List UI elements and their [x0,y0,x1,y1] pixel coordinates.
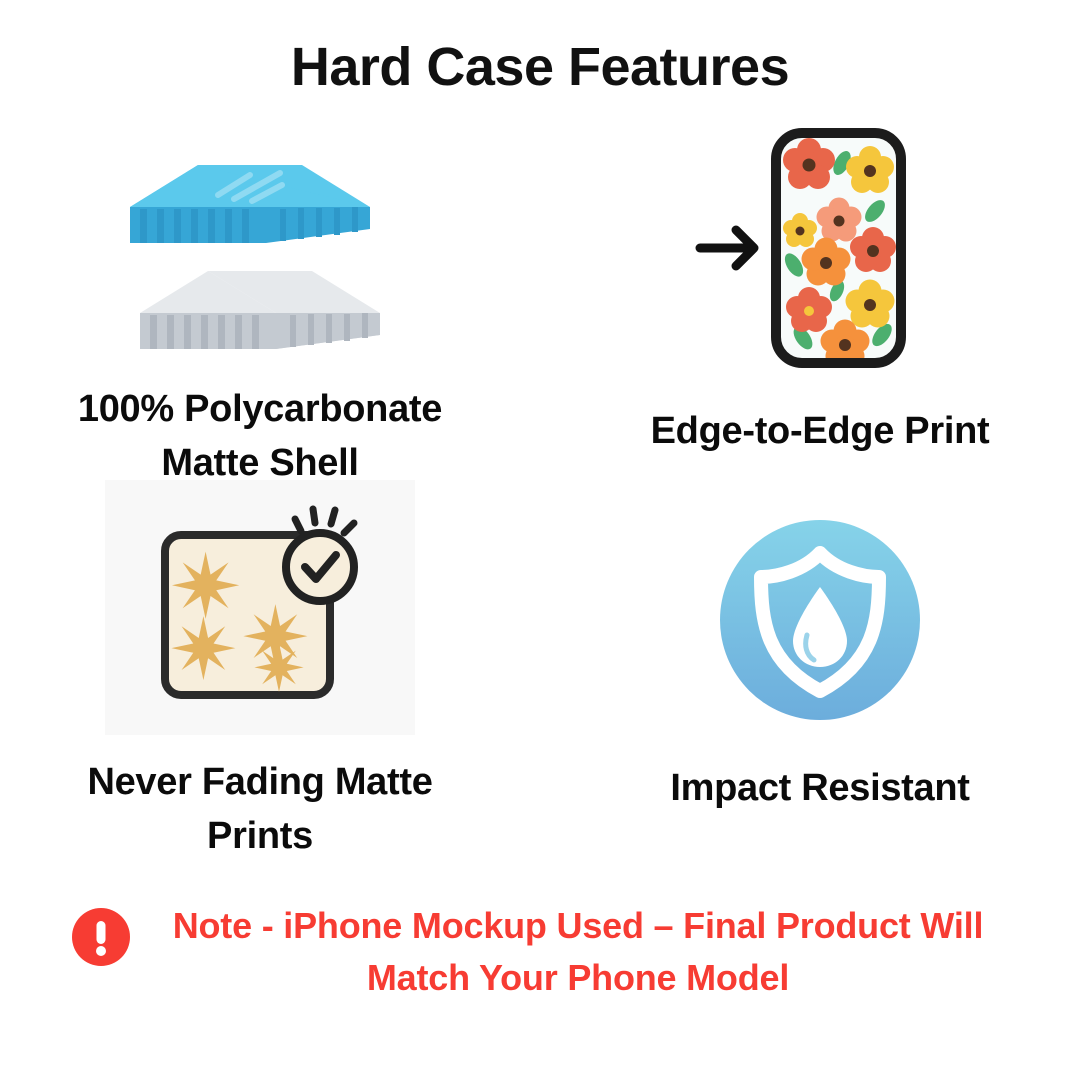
feature-label-edge-to-edge-print: Edge-to-Edge Print [570,405,1070,459]
sparkle-square-check-icon-wrap [10,470,510,740]
sparkle-square-check-icon [145,495,375,715]
feature-card-impact-resistant: Impact Resistant [570,500,1070,816]
feature-infographic: Hard Case Features [0,0,1080,1080]
feature-card-edge-to-edge-print: Edge-to-Edge Print [570,120,1070,459]
shield-droplet-badge-icon-wrap [570,500,1070,740]
layered-slabs-icon [130,153,390,363]
feature-card-never-fading-prints: Never Fading Matte Prints [10,470,510,864]
layered-slabs-icon-wrap [10,150,510,365]
feature-label-never-fading-prints: Never Fading Matte Prints [10,756,510,864]
arrow-right-icon [700,230,754,266]
exclamation-circle-icon [72,908,130,971]
floral-phone-case-icon-wrap [570,120,1070,375]
feature-label-impact-resistant: Impact Resistant [570,762,1070,816]
floral-phone-case-icon [690,123,950,373]
page-title: Hard Case Features [0,36,1080,98]
shield-droplet-badge-icon [715,515,925,725]
disclaimer-note: Note - iPhone Mockup Used – Final Produc… [60,900,1020,1004]
disclaimer-text: Note - iPhone Mockup Used – Final Produc… [148,900,1008,1004]
feature-card-polycarbonate-shell: 100% Polycarbonate Matte Shell [10,150,510,491]
